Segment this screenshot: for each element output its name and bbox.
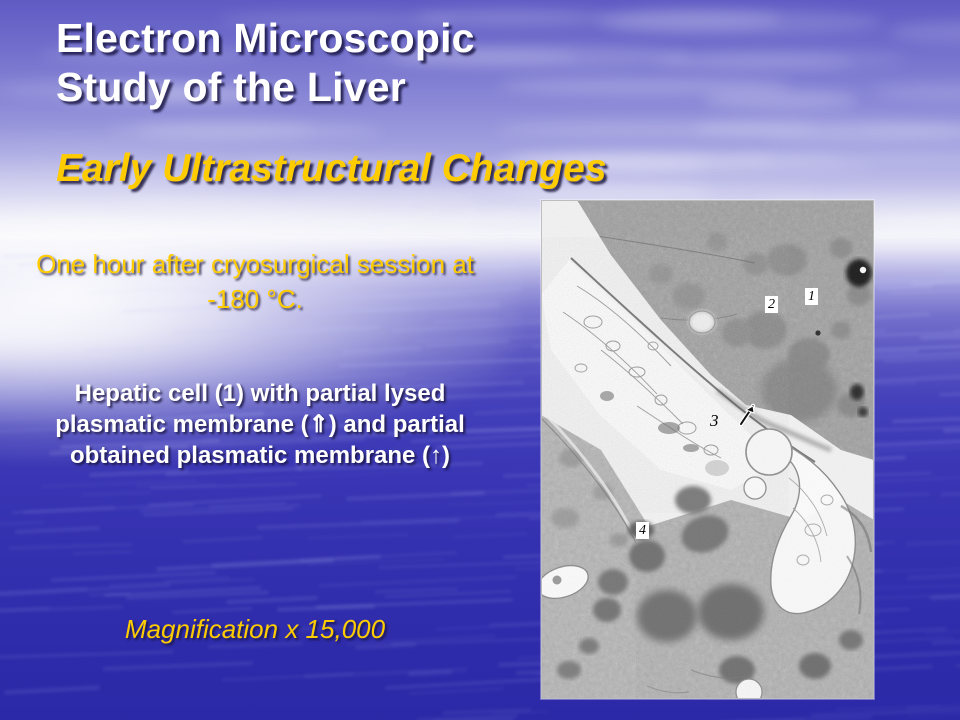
page-subtitle: Early Ultrastructural Changes <box>56 146 936 192</box>
magnification-caption: Magnification x 15,000 <box>40 613 470 646</box>
slide: Electron Microscopic Study of the Liver … <box>0 0 960 720</box>
micrograph-label-4: 4 <box>636 522 649 539</box>
micrograph-label-1: 1 <box>805 288 818 305</box>
lead-caption: One hour after cryosurgical session at -… <box>30 247 480 317</box>
film-grain <box>541 200 874 699</box>
page-title: Electron Microscopic Study of the Liver <box>56 14 886 112</box>
micrograph-label-2: 2 <box>765 296 778 313</box>
body-caption: Hepatic cell (1) with partial lysed plas… <box>50 378 470 471</box>
micrograph-canvas <box>541 200 874 699</box>
micrograph-label-3: 3 <box>707 412 722 429</box>
electron-micrograph-image: 1 2 3 4 <box>541 200 874 699</box>
micrograph-content <box>541 200 874 699</box>
